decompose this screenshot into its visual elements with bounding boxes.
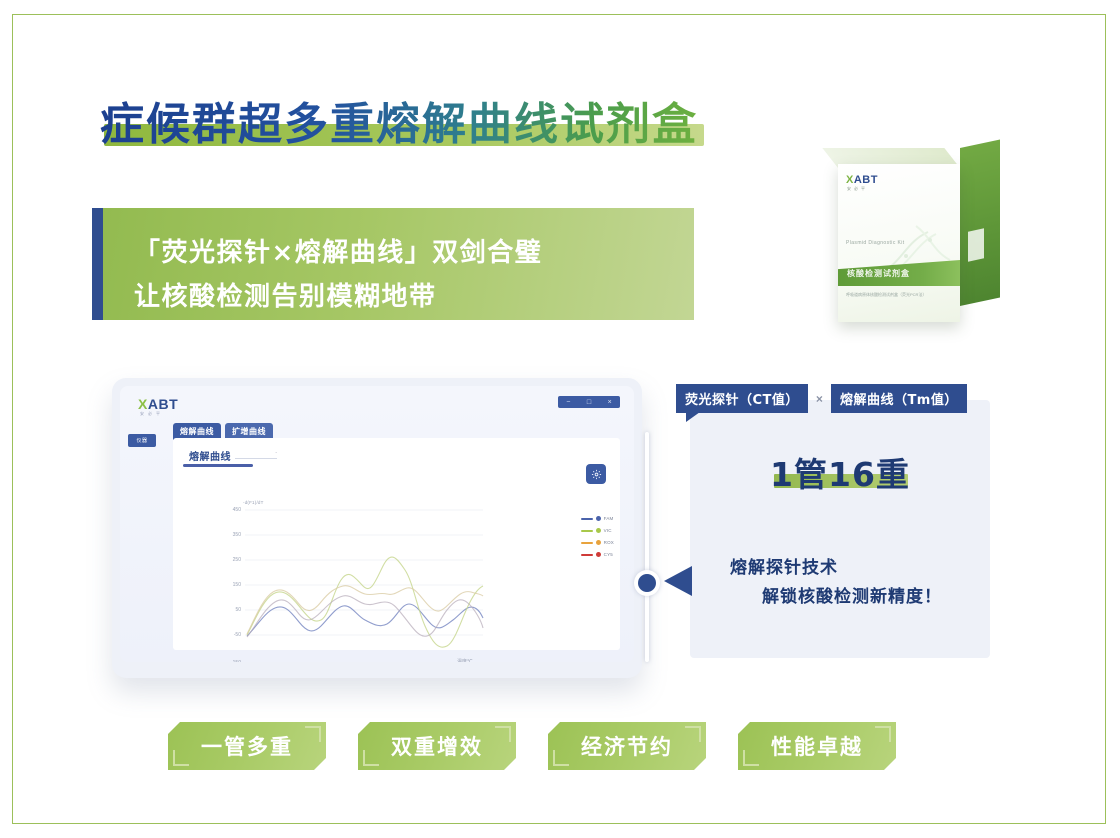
formula-tag-row: 荧光探针（CT值） × 熔解曲线（Tm值） (676, 384, 967, 413)
feature-tag-label: 双重增效 (358, 722, 516, 770)
product-box-logo: XABT (846, 174, 878, 186)
legend-item-cy5[interactable]: CY5 (581, 552, 614, 557)
legend-label-fam: FAM (604, 516, 614, 521)
maximize-icon[interactable]: □ (587, 399, 591, 406)
app-logo-x-mark: X (138, 396, 148, 412)
logo-x-mark: X (846, 174, 854, 186)
channel-select[interactable]: - (235, 450, 277, 459)
chart-y-axis-label: -d(F1)/dT (243, 500, 264, 505)
feature-tag-performance[interactable]: 性能卓越 (738, 722, 896, 770)
panel-active-underline (183, 464, 253, 467)
legend-item-vic[interactable]: VIC (581, 528, 614, 533)
chart-x-axis-label: 温度℃ (457, 658, 473, 662)
product-box-side-face (960, 139, 1000, 306)
chart-legend: FAM VIC ROX CY5 (581, 516, 614, 564)
highlight-panel (690, 400, 990, 658)
panel-title: 熔解曲线 (189, 448, 231, 463)
feature-tag-economical[interactable]: 经济节约 (548, 722, 706, 770)
legend-label-vic: VIC (604, 528, 612, 533)
legend-item-rox[interactable]: ROX (581, 540, 614, 545)
sidebar-item-instrument[interactable]: 仪器 (128, 434, 156, 447)
tag-speech-tail (686, 412, 700, 422)
product-box-barcode (968, 228, 984, 261)
multiply-symbol: × (816, 392, 823, 406)
y-tick-450: 450 (217, 507, 241, 513)
panel-line-1: 熔解探针技术 (730, 553, 838, 578)
product-box-fine-print: 呼吸道病原体核酸检测试剂盒（荧光PCR法） (846, 292, 946, 297)
y-tick-50: 50 (217, 607, 241, 613)
legend-swatch-vic (581, 530, 593, 532)
banner-line-2: 让核酸检测告别模糊地带 (134, 276, 437, 313)
logo-text: ABT (854, 174, 878, 186)
product-box-logo-sub: 安必平 (847, 186, 868, 192)
product-box-desc: Plasmid Diagnostic Kit (846, 240, 905, 246)
feature-tag-multiplex[interactable]: 一管多重 (168, 722, 326, 770)
legend-label-rox: ROX (604, 540, 614, 545)
minimize-icon[interactable]: − (566, 399, 570, 406)
headline-text: 1管16重 (690, 448, 990, 496)
feature-tag-dual-efficiency[interactable]: 双重增效 (358, 722, 516, 770)
panel-pointer-arrow (664, 566, 692, 596)
y-tick-250: 250 (217, 557, 241, 563)
y-tick-350: 350 (217, 532, 241, 538)
chart-plot (245, 508, 485, 662)
panel-line-2: 解锁核酸检测新精度！ (762, 582, 942, 607)
app-logo: XABT (138, 396, 178, 412)
feature-tag-label: 一管多重 (168, 722, 326, 770)
feature-tag-label: 经济节约 (548, 722, 706, 770)
tag-melting-curve-label: 熔解曲线（Tm值） (840, 393, 958, 408)
legend-item-fam[interactable]: FAM (581, 516, 614, 521)
legend-dot-rox (596, 540, 601, 545)
timeline-track (645, 432, 649, 662)
tablet-screen: XABT 安必平 − □ × 仪器 熔解曲线 扩增曲线 熔解曲线 - -d(F1… (120, 386, 634, 662)
banner-left-edge (92, 208, 103, 320)
legend-label-cy5: CY5 (604, 552, 613, 557)
app-logo-subtitle: 安必平 (140, 411, 164, 417)
legend-swatch-cy5 (581, 554, 593, 556)
close-icon[interactable]: × (608, 399, 612, 406)
banner-line-1: 「荧光探针×熔解曲线」双剑合璧 (134, 232, 542, 269)
page-title-block: 症候群超多重熔解曲线试剂盒 (100, 88, 698, 152)
feature-tag-label: 性能卓越 (738, 722, 896, 770)
legend-dot-vic (596, 528, 601, 533)
legend-dot-cy5 (596, 552, 601, 557)
feature-tag-row: 一管多重 双重增效 经济节约 性能卓越 (168, 722, 896, 770)
y-tick-150: 150 (217, 582, 241, 588)
chart-panel: 熔解曲线 - -d(F1)/dT 450 350 250 150 50 -50 … (173, 438, 620, 650)
product-box-image: XABT 安必平 Plasmid Diagnostic Kit 核酸检测试剂盒 … (832, 142, 1012, 332)
tag-fluorescent-probe-label: 荧光探针（CT值） (685, 393, 799, 408)
legend-dot-fam (596, 516, 601, 521)
timeline-marker-dot (638, 574, 656, 592)
legend-swatch-fam (581, 518, 593, 520)
tag-melting-curve: 熔解曲线（Tm值） (831, 384, 967, 413)
app-logo-text: ABT (148, 396, 178, 412)
melting-curve-chart: -d(F1)/dT 450 350 250 150 50 -50 -150 (217, 474, 564, 618)
tablet-device: XABT 安必平 − □ × 仪器 熔解曲线 扩增曲线 熔解曲线 - -d(F1… (112, 378, 642, 678)
headline-block: 1管16重 (690, 448, 990, 496)
product-box-name: 核酸检测试剂盒 (847, 268, 910, 279)
y-tick-neg150: -150 (217, 660, 241, 662)
page-title: 症候群超多重熔解曲线试剂盒 (100, 88, 698, 152)
window-controls[interactable]: − □ × (558, 396, 620, 408)
timeline-marker[interactable] (634, 570, 660, 596)
tag-fluorescent-probe: 荧光探针（CT值） (676, 384, 808, 413)
legend-swatch-rox (581, 542, 593, 544)
gear-icon[interactable] (586, 464, 606, 484)
y-tick-neg50: -50 (217, 632, 241, 638)
